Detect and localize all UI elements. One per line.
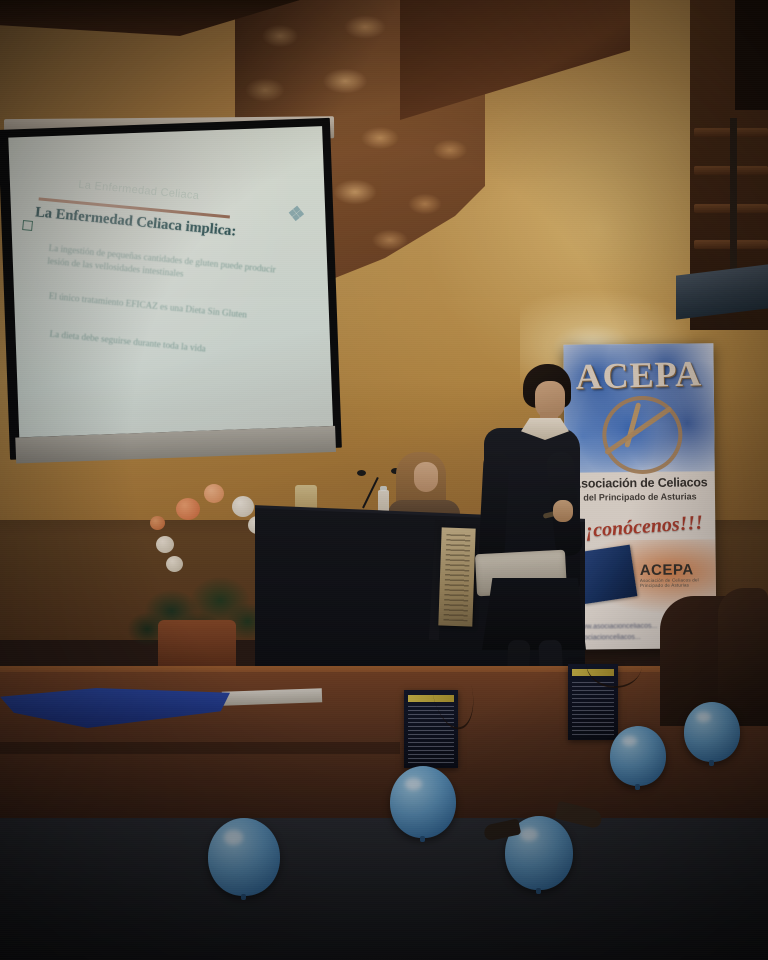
banner-secondary-logo-subtitle: Asociación de Celiacos del Principado de…	[640, 577, 712, 588]
screen-surface: La Enfermedad Celiaca La Enfermedad Celi…	[8, 126, 333, 437]
flower-bloom-white	[156, 536, 174, 553]
slide-bullet-1: La ingestión de pequeñas cantidades de g…	[47, 242, 300, 293]
balloon	[208, 818, 280, 896]
floor	[0, 818, 768, 960]
speaker-skirt	[482, 578, 586, 650]
balloon-knot	[536, 888, 541, 894]
railing-post	[730, 118, 737, 278]
screen-border: La Enfermedad Celiaca La Enfermedad Celi…	[0, 118, 342, 460]
balloon	[610, 726, 666, 786]
slide-bullet-2: El único tratamiento EFICAZ es una Dieta…	[48, 290, 300, 327]
speaker-hand	[553, 500, 573, 522]
banner-acronym: ACEPA	[563, 352, 714, 398]
flower-bloom-white	[232, 496, 254, 517]
flower-bloom-peach	[204, 484, 224, 503]
balloon-knot	[709, 760, 714, 766]
balloon	[390, 766, 456, 838]
table-placard	[438, 527, 475, 626]
banner-line-2: del Principado de Asturias	[565, 491, 715, 503]
poster-text-block	[572, 680, 614, 735]
banner-booklet-image	[576, 545, 637, 604]
slide-content: La Enfermedad Celiaca La Enfermedad Celi…	[11, 129, 331, 435]
stage-step	[0, 742, 400, 754]
slide-bullet-3: La dieta debe seguirse durante toda la v…	[49, 328, 301, 365]
banner-line-1: Asociación de Celiacos	[565, 475, 715, 491]
banner-watercolor-top: ACEPA	[563, 343, 714, 473]
flower-bloom-orange	[150, 516, 165, 530]
balloon	[684, 702, 740, 762]
dark-furniture	[718, 588, 768, 708]
acepa-diamond-logo-icon	[288, 205, 305, 222]
photograph-scene: La Enfermedad Celiaca La Enfermedad Celi…	[0, 0, 768, 960]
balloon-knot	[241, 894, 246, 900]
banner-secondary-logo: ACEPA	[640, 561, 694, 579]
flower-bloom-orange	[176, 498, 200, 520]
balloon-knot	[635, 784, 640, 790]
microphone-head	[357, 470, 366, 476]
projection-screen: La Enfermedad Celiaca La Enfermedad Celi…	[0, 118, 347, 482]
flower-bloom-white	[166, 556, 183, 572]
slide-checkbox-bullet	[22, 220, 33, 231]
upper-right-dark-area	[735, 0, 768, 110]
panelist-face	[414, 462, 438, 492]
balloon-knot	[420, 836, 425, 842]
